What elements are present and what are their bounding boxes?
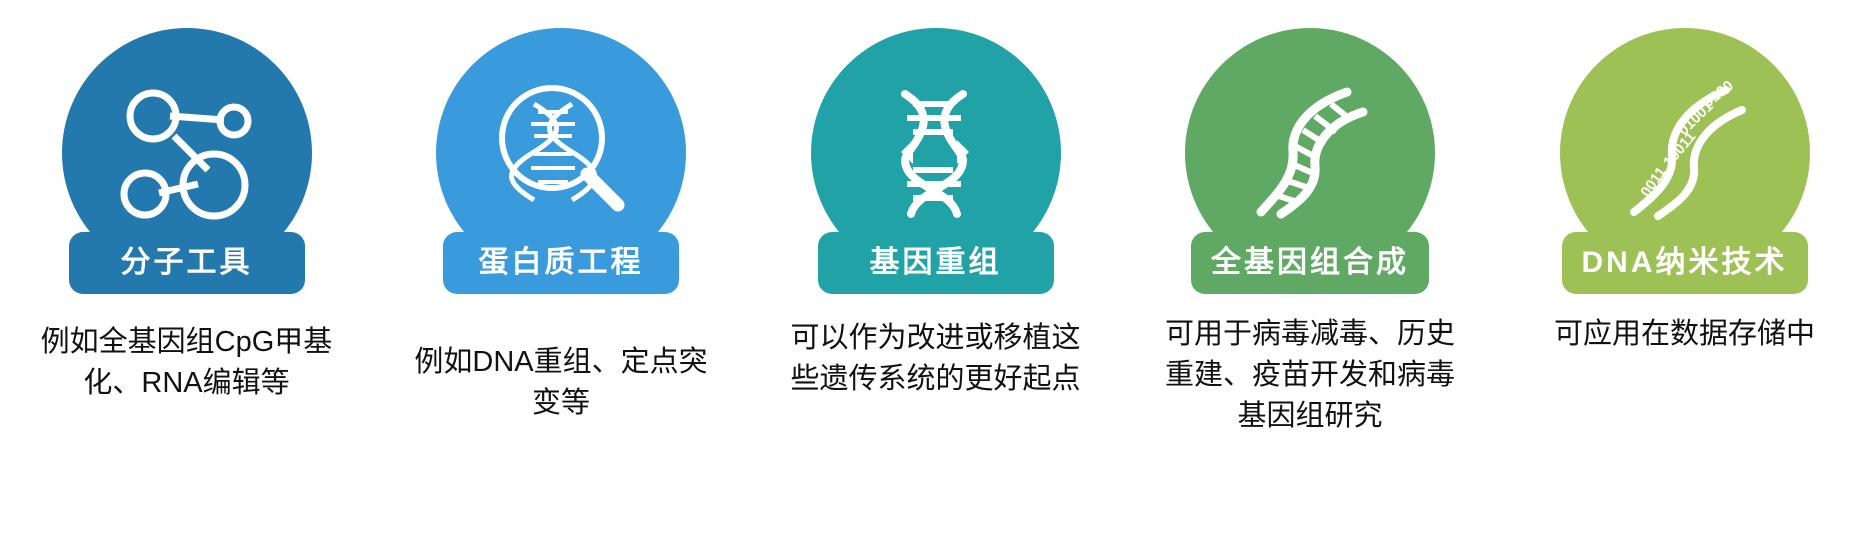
infographic-board: 分子工具 例如全基因组CpG甲基化、RNA编辑等 — [0, 0, 1871, 545]
caption-whole-genome-synthesis: 可用于病毒减毒、历史重建、疫苗开发和病毒基因组研究 — [1160, 314, 1460, 438]
card-whole-genome-synthesis[interactable]: 全基因组合成 可用于病毒减毒、历史重建、疫苗开发和病毒基因组研究 — [1138, 0, 1483, 438]
badge-gene-recombination[interactable]: 基因重组 — [818, 232, 1054, 294]
badge-label: 分子工具 — [121, 248, 253, 278]
caption-molecular-tools: 例如全基因组CpG甲基化、RNA编辑等 — [37, 322, 337, 404]
badge-dna-nanotechnology[interactable]: DNA纳米技术 — [1562, 232, 1808, 294]
dna-magnifier-icon — [486, 78, 636, 228]
dna-helix-icon — [1235, 78, 1385, 228]
circle-wrap: 全基因组合成 — [1138, 0, 1483, 300]
circle-wrap: 0100 01001 10011 0011 DNA纳米技术 — [1512, 0, 1857, 300]
badge-whole-genome-synthesis[interactable]: 全基因组合成 — [1191, 232, 1429, 294]
badge-protein-engineering[interactable]: 蛋白质工程 — [443, 232, 679, 294]
badge-label: 基因重组 — [870, 248, 1002, 278]
circle-wrap: 基因重组 — [763, 0, 1108, 300]
dna-binary-icon: 0100 01001 10011 0011 — [1610, 78, 1760, 228]
caption-protein-engineering: 例如DNA重组、定点突变等 — [411, 342, 711, 424]
badge-label: 全基因组合成 — [1211, 248, 1409, 278]
caption-dna-nanotechnology: 可应用在数据存储中 — [1535, 314, 1835, 355]
circle-wrap: 分子工具 — [14, 0, 359, 300]
card-gene-recombination[interactable]: 基因重组 可以作为改进或移植这些遗传系统的更好起点 — [763, 0, 1108, 400]
dna-helix-arrows-icon — [861, 78, 1011, 228]
card-protein-engineering[interactable]: 蛋白质工程 例如DNA重组、定点突变等 — [389, 0, 734, 424]
card-dna-nanotechnology[interactable]: 0100 01001 10011 0011 DNA纳米技术 可应用在数据存储中 — [1512, 0, 1857, 355]
badge-label: 蛋白质工程 — [479, 248, 644, 278]
circle-wrap: 蛋白质工程 — [389, 0, 734, 300]
badge-molecular-tools[interactable]: 分子工具 — [69, 232, 305, 294]
badge-label: DNA纳米技术 — [1582, 248, 1788, 278]
molecule-network-icon — [112, 78, 262, 228]
caption-gene-recombination: 可以作为改进或移植这些遗传系统的更好起点 — [786, 318, 1086, 400]
card-molecular-tools[interactable]: 分子工具 例如全基因组CpG甲基化、RNA编辑等 — [14, 0, 359, 404]
